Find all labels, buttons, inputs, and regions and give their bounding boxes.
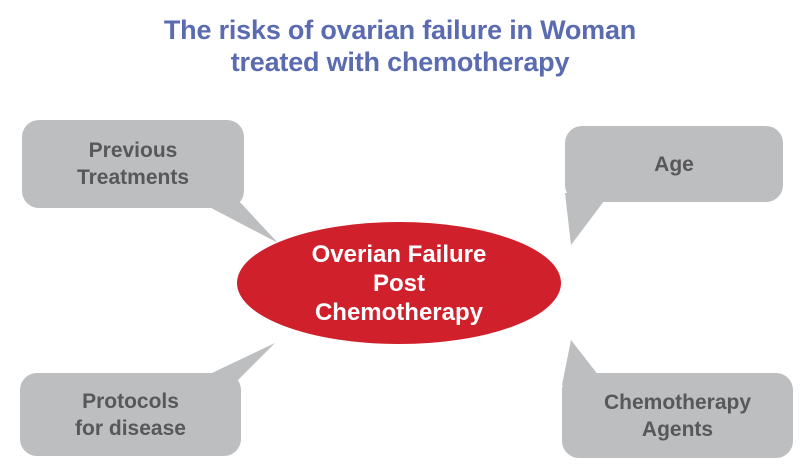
bubble-protocols-for-disease[interactable] [20, 373, 241, 456]
shape-layer [0, 0, 800, 474]
center-ellipse[interactable] [237, 222, 561, 344]
bubble-chemotherapy-agents[interactable] [562, 373, 793, 458]
bubble-previous-treatments[interactable] [22, 120, 244, 208]
bubble-age[interactable] [565, 126, 783, 202]
diagram-canvas: The risks of ovarian failure in Woman tr… [0, 0, 800, 474]
